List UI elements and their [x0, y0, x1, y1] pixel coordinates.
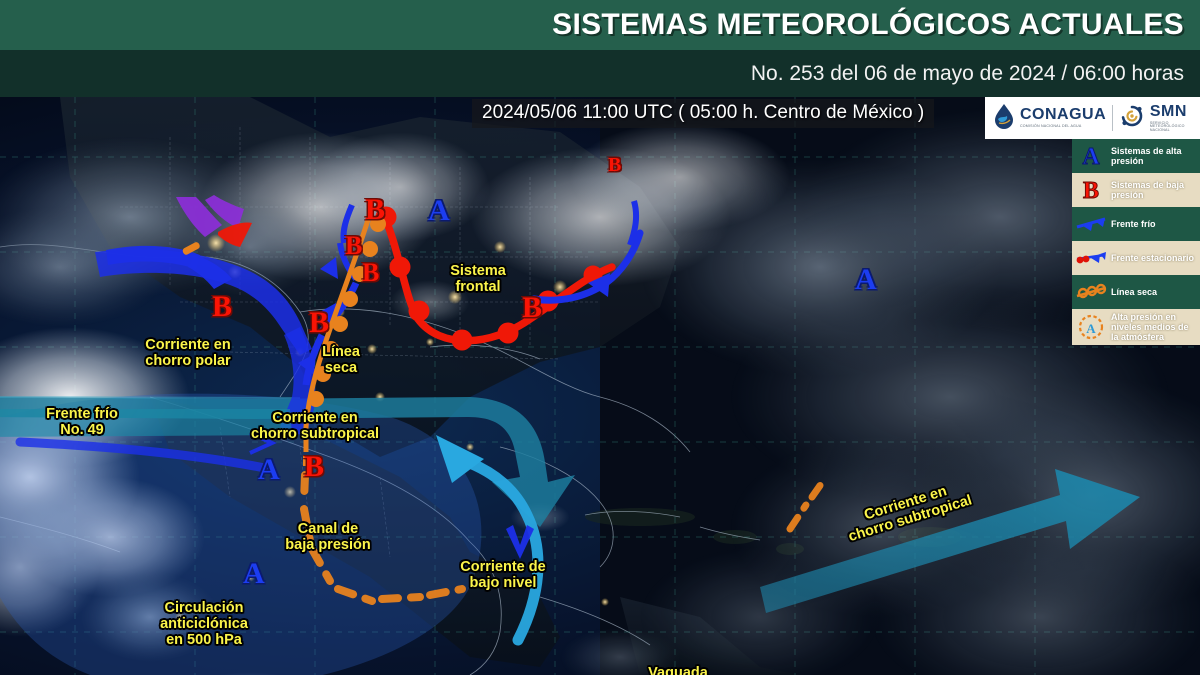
- legend-label-mid-level-high: Alta presión en niveles medios de la atm…: [1111, 312, 1196, 342]
- bulletin-band: No. 253 del 06 de mayo de 2024 / 06:00 h…: [0, 50, 1200, 97]
- map-legend: A Sistemas de alta presión B Sistemas de…: [1072, 139, 1200, 345]
- legend-item-high-pressure[interactable]: A Sistemas de alta presión: [1072, 139, 1200, 173]
- svg-text:A: A: [1082, 144, 1100, 169]
- smn-wordmark: SMN SERVICIO METEOROLÓGICO NACIONAL: [1150, 104, 1192, 133]
- stationary-front-symbol: [1074, 244, 1108, 272]
- map-basemap: [0, 97, 1200, 675]
- legend-item-stationary-front[interactable]: Frente estacionario: [1072, 241, 1200, 275]
- conagua-logo: CONAGUA COMISIÓN NACIONAL DEL AGUA: [993, 103, 1106, 134]
- legend-item-low-pressure[interactable]: B Sistemas de baja presión: [1072, 173, 1200, 207]
- smn-name: SMN: [1150, 104, 1192, 120]
- conagua-water-drop-icon: [993, 103, 1015, 134]
- svg-text:A: A: [1086, 321, 1096, 336]
- conagua-subtitle: COMISIÓN NACIONAL DEL AGUA: [1020, 125, 1106, 129]
- bulletin-number-and-date: No. 253 del 06 de mayo de 2024 / 06:00 h…: [751, 62, 1200, 86]
- dry-line-symbol: [1074, 278, 1108, 306]
- legend-label-high-pressure: Sistemas de alta presión: [1111, 146, 1196, 166]
- logo-divider: [1112, 105, 1113, 131]
- legend-item-dry-line[interactable]: Línea seca: [1072, 275, 1200, 309]
- mid-level-high-symbol: A: [1074, 313, 1108, 341]
- timestamp-bar: 2024/05/06 11:00 UTC ( 05:00 h. Centro d…: [472, 99, 934, 128]
- low-pressure-B-symbol: B: [1074, 176, 1108, 204]
- title-band: SISTEMAS METEOROLÓGICOS ACTUALES: [0, 0, 1200, 50]
- conagua-wordmark: CONAGUA COMISIÓN NACIONAL DEL AGUA: [1020, 107, 1106, 129]
- legend-item-mid-level-high[interactable]: A Alta presión en niveles medios de la a…: [1072, 309, 1200, 345]
- legend-label-stationary-front: Frente estacionario: [1111, 253, 1194, 263]
- cold-front-symbol: [1074, 210, 1108, 238]
- agency-logo-bar: CONAGUA COMISIÓN NACIONAL DEL AGUA SMN S…: [985, 97, 1200, 139]
- smn-logo: SMN SERVICIO METEOROLÓGICO NACIONAL: [1119, 103, 1192, 134]
- timestamp-text: 2024/05/06 11:00 UTC ( 05:00 h. Centro d…: [482, 102, 924, 123]
- smn-subtitle: SERVICIO METEOROLÓGICO NACIONAL: [1150, 122, 1192, 133]
- legend-label-cold-front: Frente frío: [1111, 219, 1156, 229]
- legend-item-cold-front[interactable]: Frente frío: [1072, 207, 1200, 241]
- svg-text:B: B: [1083, 178, 1099, 203]
- satellite-weather-map[interactable]: Corriente en chorro polar Línea seca Fre…: [0, 97, 1200, 675]
- legend-label-low-pressure: Sistemas de baja presión: [1111, 180, 1196, 200]
- smn-spiral-icon: [1119, 103, 1145, 134]
- page-title: SISTEMAS METEOROLÓGICOS ACTUALES: [552, 8, 1200, 42]
- conagua-name: CONAGUA: [1020, 107, 1106, 123]
- legend-label-dry-line: Línea seca: [1111, 287, 1157, 297]
- high-pressure-A-symbol: A: [1074, 142, 1108, 170]
